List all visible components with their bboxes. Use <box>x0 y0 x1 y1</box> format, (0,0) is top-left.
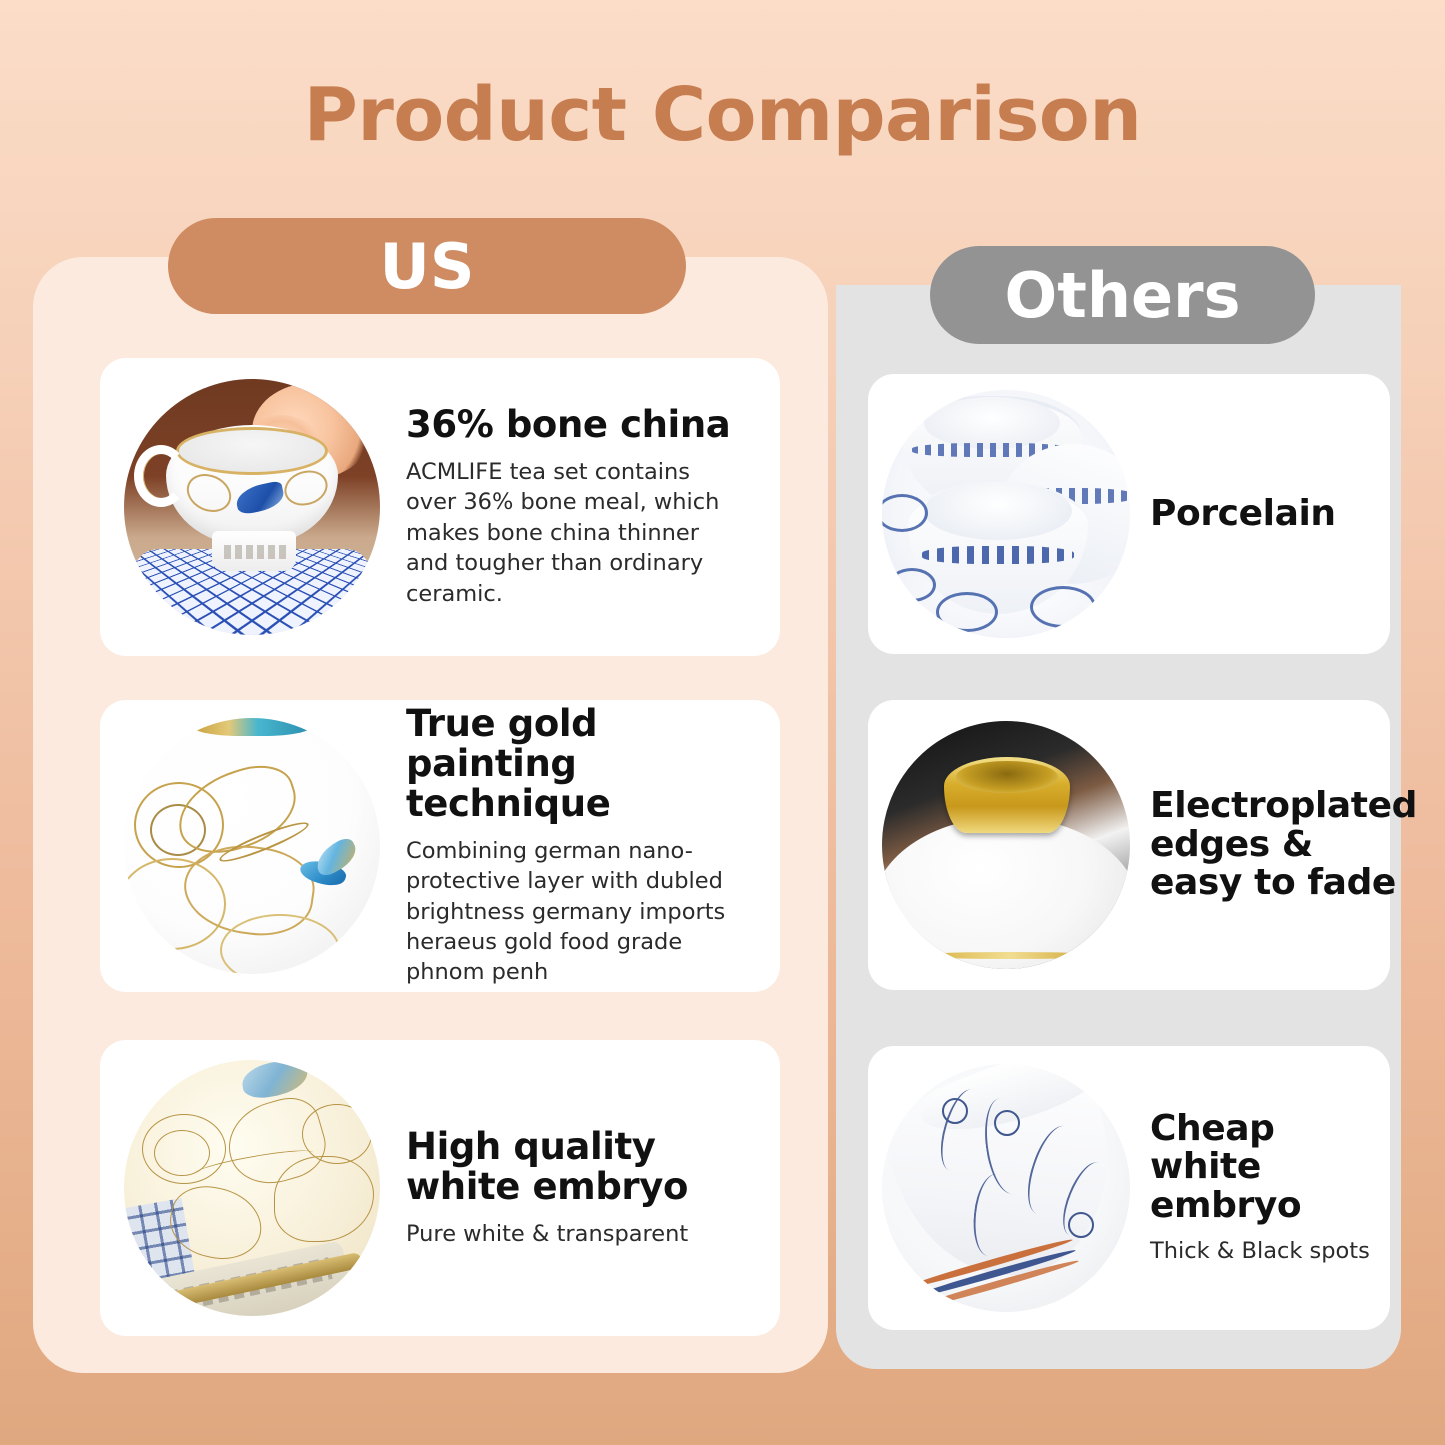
us-card-1-text: 36% bone china ACMLIFE tea set contains … <box>380 405 748 609</box>
others-feature-card-3[interactable]: Cheap white embryo Thick & Black spots <box>868 1046 1390 1330</box>
us-card-3-text: High quality white embryo Pure white & t… <box>380 1127 780 1249</box>
us-card-3-body: Pure white & transparent <box>406 1219 736 1249</box>
others-card-3-text: Cheap white embryo Thick & Black spots <box>1130 1110 1390 1267</box>
others-card-3-body: Thick & Black spots <box>1150 1236 1390 1266</box>
others-badge: Others <box>930 246 1315 344</box>
us-feature-card-2[interactable]: True gold painting technique Combining g… <box>100 700 780 992</box>
others-card-2-text: Electroplated edges & easy to fade <box>1130 787 1417 904</box>
others-feature-card-1[interactable]: Porcelain <box>868 374 1390 654</box>
us-card-1-body: ACMLIFE tea set contains over 36% bone m… <box>406 457 736 609</box>
bone-china-teacup-photo <box>124 379 380 635</box>
us-card-2-text: True gold painting technique Combining g… <box>380 704 780 988</box>
us-card-2-body: Combining german nano-protective layer w… <box>406 836 736 988</box>
others-card-1-title: Porcelain <box>1150 495 1336 534</box>
gold-electroplated-jar-photo <box>882 721 1130 969</box>
us-feature-card-1[interactable]: 36% bone china ACMLIFE tea set contains … <box>100 358 780 656</box>
us-card-3-title: High quality white embryo <box>406 1127 768 1207</box>
page-title: Product Comparison <box>0 72 1445 158</box>
us-feature-card-3[interactable]: High quality white embryo Pure white & t… <box>100 1040 780 1336</box>
others-badge-label: Others <box>1004 259 1240 332</box>
others-card-3-title: Cheap white embryo <box>1150 1110 1390 1227</box>
gold-painted-porcelain-photo <box>124 718 380 974</box>
us-card-1-title: 36% bone china <box>406 405 736 445</box>
us-badge-label: US <box>380 230 475 303</box>
others-card-2-title: Electroplated edges & easy to fade <box>1150 787 1417 904</box>
us-card-2-title: True gold painting technique <box>406 704 768 824</box>
us-badge: US <box>168 218 686 314</box>
others-card-1-text: Porcelain <box>1130 495 1336 534</box>
cheap-white-embryo-bowl-photo <box>882 1064 1130 1312</box>
others-feature-card-2[interactable]: Electroplated edges & easy to fade <box>868 700 1390 990</box>
blue-white-porcelain-bowls-photo <box>882 390 1130 638</box>
white-embryo-cup-photo <box>124 1060 380 1316</box>
